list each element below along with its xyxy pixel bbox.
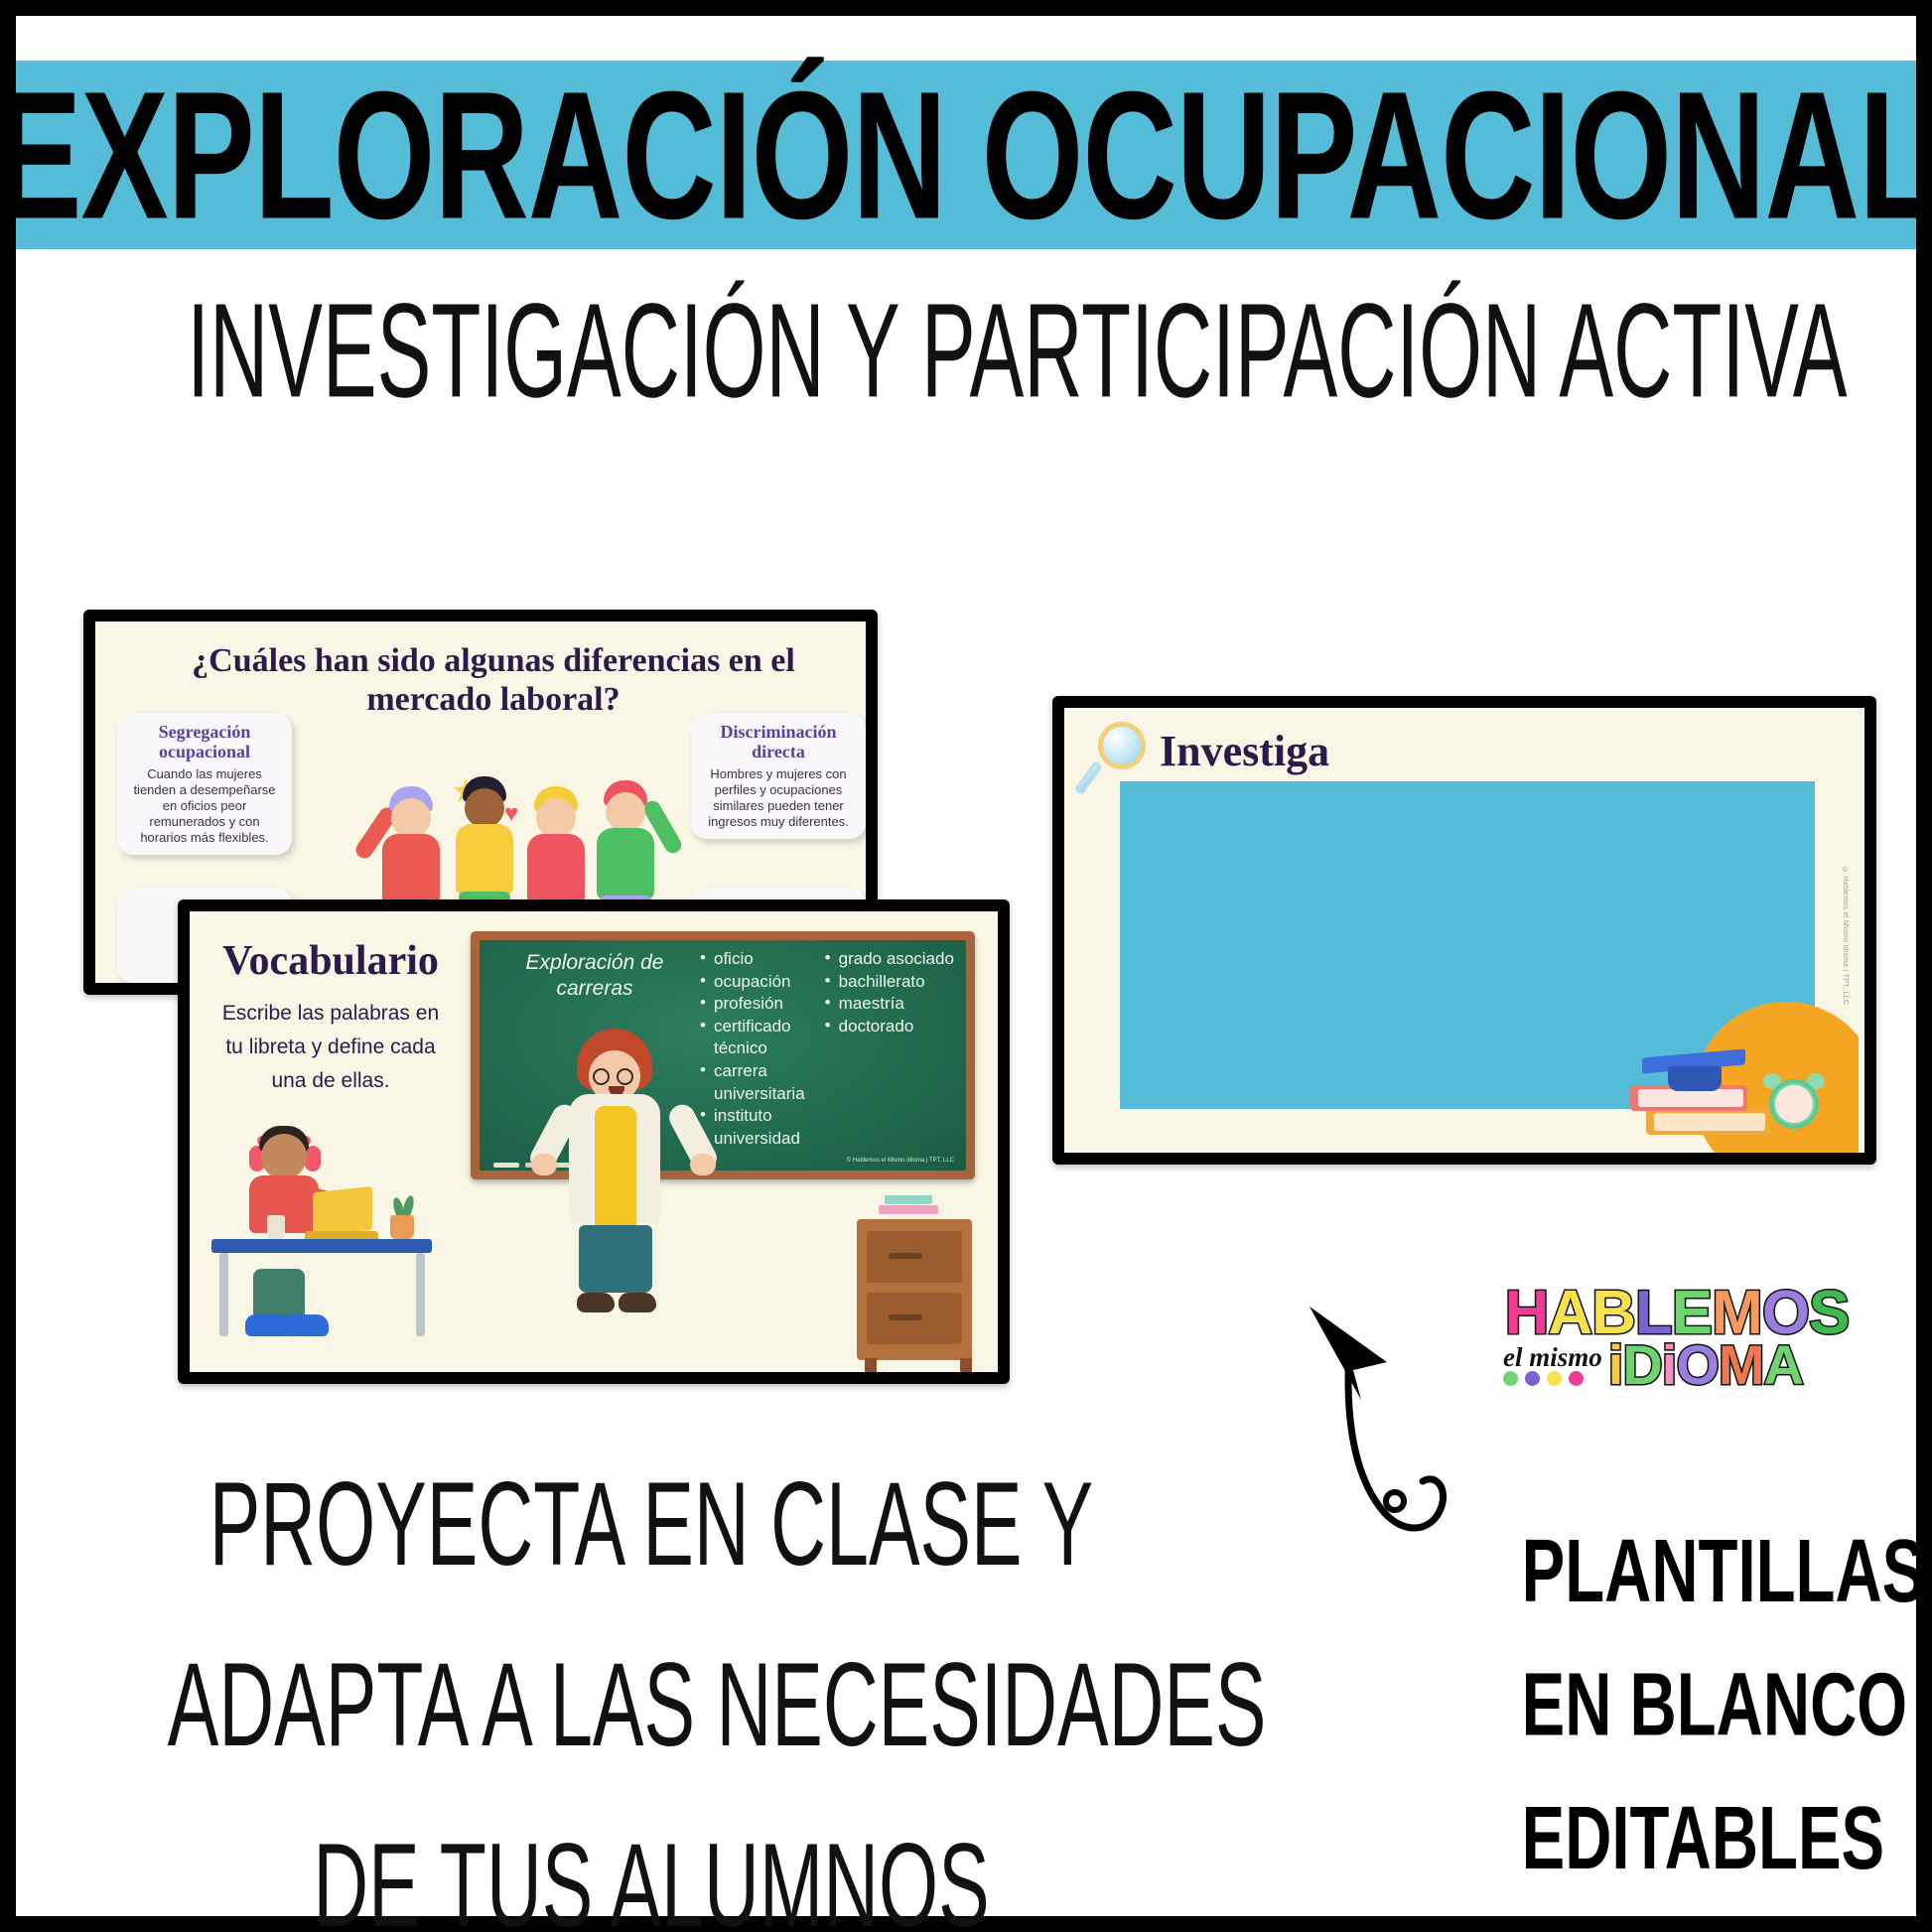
vocabulary-list-right: grado asociadobachilleratomaestríadoctor…	[825, 948, 954, 1150]
teacher-illustration	[539, 1029, 708, 1356]
tagline-line: DE TUS ALUMNOS	[168, 1797, 1135, 1932]
vocabulary-item: carrera	[700, 1060, 805, 1083]
promo-line: EN BLANCO	[1522, 1639, 1847, 1773]
card-body: Hombres y mujeres con perfiles y ocupaci…	[699, 766, 858, 829]
cup-icon	[267, 1215, 285, 1239]
vocabulary-item: instituto	[700, 1105, 805, 1128]
logo-word-idioma: iDiOMA	[1608, 1341, 1803, 1389]
vocabulary-item: grado asociado	[825, 948, 954, 971]
slide-title: Vocabulario	[204, 937, 458, 985]
vocabulary-item: técnico	[700, 1037, 805, 1060]
vocabulario-text-block: Vocabulario Escribe las palabras en tu l…	[204, 937, 458, 1098]
logo-letter: E	[1672, 1287, 1712, 1339]
logo-dot	[1569, 1371, 1584, 1386]
instruction-line: una de ellas.	[204, 1064, 458, 1098]
copyright-watermark: © Hablemos el Mismo Idioma | TPT, LLC	[1842, 867, 1849, 1005]
slide-thumbnail-investiga[interactable]: Investiga © Hablemos el Mismo Idioma | T…	[1052, 696, 1876, 1165]
vocabulary-item: certificado	[700, 1016, 805, 1038]
logo-letter: S	[1809, 1287, 1849, 1339]
logo-letter: L	[1635, 1287, 1672, 1339]
vocabulary-item: universidad	[700, 1128, 805, 1151]
desk-shape	[211, 1239, 432, 1253]
logo-dot	[1547, 1371, 1562, 1386]
vocabulary-item: bachillerato	[825, 971, 954, 994]
vocabulary-list-left: oficioocupaciónprofesióncertificadotécni…	[700, 948, 805, 1150]
card-segregacion-ocupacional: Segregación ocupacional Cuando las mujer…	[117, 713, 292, 855]
graduation-cap-icon	[1650, 1053, 1737, 1087]
logo-letter: O	[1762, 1287, 1809, 1339]
chalkboard-heading: Exploración de carreras	[495, 950, 694, 1001]
tagline-block: PROYECTA EN CLASE Y ADAPTA A LAS NECESID…	[168, 1436, 1135, 1932]
student-at-desk-illustration	[206, 1120, 454, 1378]
vocabulary-item: universitaria	[700, 1083, 805, 1106]
instruction-line: Escribe las palabras en	[204, 997, 458, 1031]
books-and-clock-illustration	[1610, 994, 1859, 1153]
vocabulary-item: maestría	[825, 993, 954, 1016]
logo-letter: B	[1591, 1287, 1635, 1339]
logo-letter: M	[1719, 1341, 1764, 1389]
card-discriminacion-directa: Discriminación directa Hombres y mujeres…	[691, 713, 866, 839]
logo-letter: i	[1608, 1341, 1623, 1389]
hand-drawn-arrow-icon	[1292, 1297, 1520, 1565]
brand-logo: HABLEMOS el mismo iDiOMA	[1503, 1287, 1851, 1450]
logo-letter: A	[1548, 1287, 1591, 1339]
logo-letter: M	[1712, 1287, 1762, 1339]
card-body: Cuando las mujeres tienden a desempeñars…	[125, 766, 284, 845]
logo-row-secondary: el mismo iDiOMA	[1503, 1341, 1851, 1389]
plant-icon	[390, 1215, 414, 1239]
title-banner: EXPLORACIÓN OCUPACIONAL	[16, 61, 1916, 249]
book-orange-icon	[1646, 1109, 1769, 1135]
slide-question-title: ¿Cuáles han sido algunas diferencias en …	[133, 641, 854, 720]
alarm-clock-icon	[1763, 1067, 1825, 1133]
logo-script-text: el mismo	[1503, 1344, 1602, 1371]
card-heading: Segregación ocupacional	[125, 722, 284, 761]
logo-word-hablemos: HABLEMOS	[1503, 1287, 1851, 1339]
page-subtitle: INVESTIGACIÓN Y PARTICIPACIÓN ACTIVA	[187, 284, 1744, 418]
logo-dot	[1525, 1371, 1540, 1386]
file-cabinet-illustration	[857, 1191, 984, 1372]
logo-letter: O	[1676, 1341, 1719, 1389]
logo-letter: A	[1764, 1341, 1803, 1389]
laptop-icon	[313, 1186, 372, 1236]
slide-title: Investiga	[1160, 726, 1329, 776]
vocabulary-item: ocupación	[700, 971, 805, 994]
vocabulary-item: doctorado	[825, 1016, 954, 1038]
logo-dot	[1503, 1371, 1518, 1386]
logo-letter: i	[1662, 1341, 1677, 1389]
copyright-watermark: © Hablemos el Mismo Idioma | TPT, LLC	[847, 1158, 954, 1164]
instruction-line: tu libreta y define cada	[204, 1031, 458, 1064]
vocabulary-item: oficio	[700, 948, 805, 971]
product-cover: EXPLORACIÓN OCUPACIONAL INVESTIGACIÓN Y …	[0, 0, 1932, 1932]
card-heading: Discriminación directa	[699, 722, 858, 761]
logo-letter: D	[1622, 1341, 1661, 1389]
tagline-line: ADAPTA A LAS NECESIDADES	[168, 1616, 1135, 1797]
vocabulary-item: profesión	[700, 993, 805, 1016]
page-title: EXPLORACIÓN OCUPACIONAL	[0, 65, 1932, 246]
slide-thumbnail-vocabulario[interactable]: Vocabulario Escribe las palabras en tu l…	[178, 899, 1010, 1384]
promo-line: PLANTILLAS	[1522, 1505, 1847, 1639]
promo-line: EDITABLES	[1522, 1772, 1847, 1906]
logo-dots	[1503, 1371, 1602, 1386]
tagline-line: PROYECTA EN CLASE Y	[168, 1436, 1135, 1616]
logo-letter: H	[1505, 1287, 1549, 1339]
promo-block: PLANTILLAS EN BLANCO EDITABLES	[1522, 1505, 1847, 1906]
